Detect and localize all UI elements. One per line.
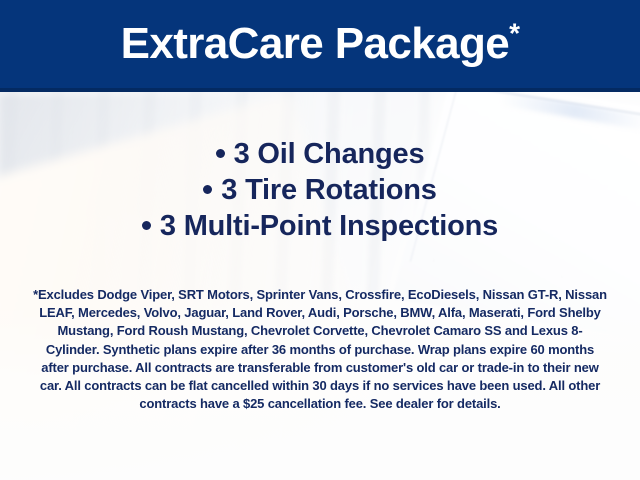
benefit-label: 3 Multi-Point Inspections (160, 210, 498, 242)
benefit-label: 3 Tire Rotations (221, 174, 436, 206)
page-title: ExtraCare Package* (121, 22, 520, 66)
extracare-promo-card: ExtraCare Package* 3 Oil Changes 3 Tire … (0, 0, 640, 480)
benefits-list: 3 Oil Changes 3 Tire Rotations 3 Multi-P… (0, 136, 640, 244)
list-item: 3 Oil Changes (0, 136, 640, 172)
list-item: 3 Tire Rotations (0, 172, 640, 208)
bullet-dot-icon (216, 149, 225, 158)
bullet-dot-icon (203, 185, 212, 194)
disclaimer-text: *Excludes Dodge Viper, SRT Motors, Sprin… (32, 286, 607, 413)
list-item: 3 Multi-Point Inspections (0, 208, 640, 244)
title-asterisk-marker: * (509, 17, 519, 48)
page-title-text: ExtraCare Package (121, 19, 510, 68)
benefit-label: 3 Oil Changes (234, 138, 425, 170)
header-banner: ExtraCare Package* (0, 0, 640, 92)
bullet-dot-icon (142, 221, 151, 230)
